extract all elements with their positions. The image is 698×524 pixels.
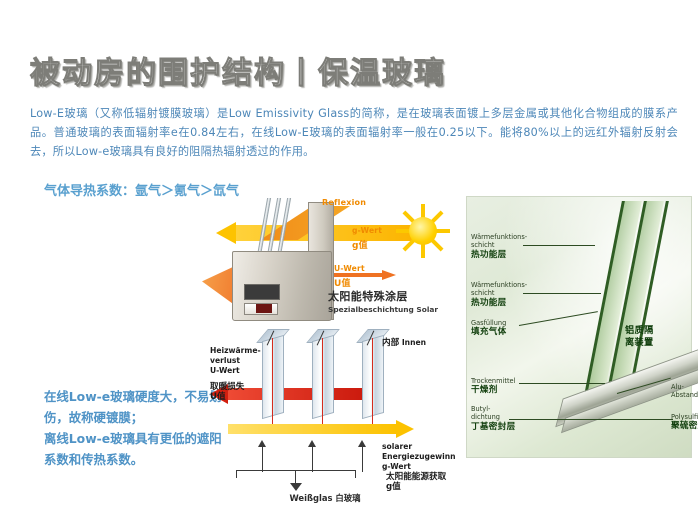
leader-line-5: [509, 419, 619, 420]
label-polysulfide-seal: Polysulfiddichtung 聚硫密封层: [671, 413, 698, 431]
label-solar-gain-cn: 太阳能能源获取g值: [386, 472, 446, 492]
pane-unit-3: [362, 338, 396, 428]
label-aluminium-spacer-cn: 铝质隔离装置: [625, 325, 653, 349]
sun-icon: [396, 204, 450, 258]
pane-brace: [236, 470, 356, 492]
label-alu-spacer: Alu-Abstandhalter: [671, 383, 698, 400]
solar-coating-caption-cn: 太阳能特殊涂层: [328, 288, 458, 304]
slide-canvas: 被动房的围护结构丨保温玻璃 Low-E玻璃（又称低辐射镀膜玻璃）是Low Emi…: [0, 0, 698, 524]
leader-line-4: [519, 383, 605, 384]
frame-reinforcement: [256, 304, 272, 313]
label-solar-gain-de: solarerEnergiezugewinng-Wert: [382, 442, 456, 472]
label-heat-function-layer-2: Wärmefunktions-schicht 热功能层: [471, 281, 527, 307]
label-u-wert: U-Wert: [334, 264, 365, 273]
igu-cutaway-panel: Wärmefunktions-schicht 热功能层 Wärmefunktio…: [466, 196, 692, 458]
label-heat-loss-cn: 取暖损失U值: [210, 382, 244, 402]
weissglas-caption: Weißglas 白玻璃: [255, 492, 395, 504]
label-interior: 内部 Innen: [382, 338, 426, 348]
solar-coating-caption: 太阳能特殊涂层 Spezialbeschichtung Solar: [328, 288, 458, 314]
pane-unit-2: [312, 338, 346, 428]
label-g-value-cn: g值: [352, 238, 368, 251]
intro-paragraph: Low-E玻璃（又称低辐射镀膜玻璃）是Low Emissivity Glass的…: [30, 104, 678, 161]
label-heat-loss-de: Heizwärme-verlustU-Wert: [210, 346, 261, 376]
label-reflexion: Reflexion: [322, 198, 366, 207]
solar-gain-arrow-icon: [228, 420, 414, 438]
note-offline-coating: 离线Low-e玻璃具有更低的遮阳系数和传热系数。: [44, 428, 224, 470]
leader-line-3: [519, 311, 598, 326]
leader-line-6: [617, 419, 673, 420]
pane-unit-1: [262, 338, 296, 428]
label-g-wert: g-Wert: [352, 226, 382, 235]
label-desiccant: Trockenmittel 干燥剂: [471, 377, 515, 395]
label-heat-function-layer-1: Wärmefunktions-schicht 热功能层: [471, 233, 527, 259]
label-butyl-seal: Butyl-dichtung 丁基密封层: [471, 405, 515, 431]
leader-line-2: [523, 293, 601, 294]
page-title: 被动房的围护结构丨保温玻璃: [30, 48, 446, 92]
leader-line-1: [523, 245, 595, 246]
note-online-coating: 在线Low-e玻璃硬度大，不易划伤，故称硬镀膜；: [44, 386, 224, 428]
solar-coating-caption-de: Spezialbeschichtung Solar: [328, 305, 458, 314]
frame-glazing-bead: [244, 284, 280, 300]
label-gas-filling: Gasfüllung 填充气体: [471, 319, 507, 337]
